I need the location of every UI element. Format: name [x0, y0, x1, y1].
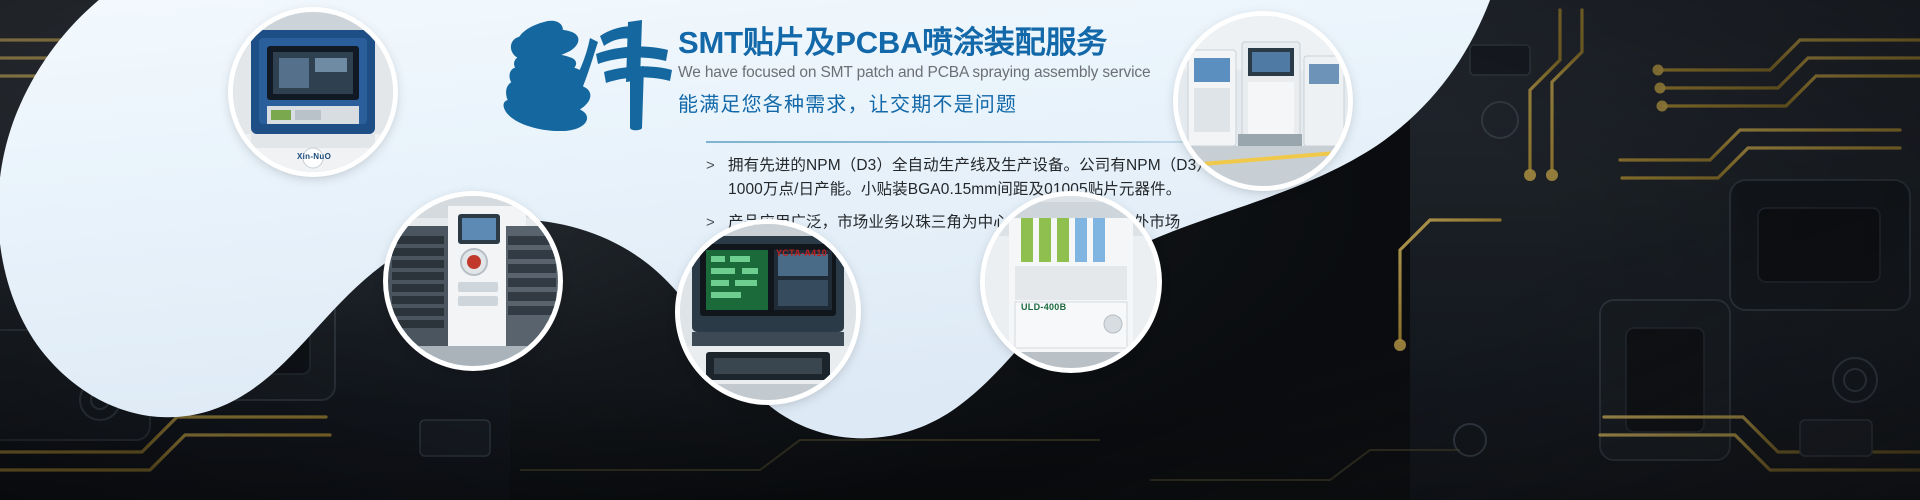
subtitle-english: We have focused on SMT patch and PCBA sp… [678, 64, 1190, 82]
subtitle-chinese: 能满足您各种需求，让交期不是问题 [678, 88, 1190, 117]
chevron-right-icon: > [706, 154, 728, 178]
photo-caption: ULD-400B [1021, 302, 1066, 312]
photo-production-line-room [1178, 16, 1348, 186]
brush-calligraphy-duonian [500, 16, 675, 131]
smt-service-banner: SMT贴片及PCBA喷涂装配服务 We have focused on SMT … [0, 0, 1920, 500]
photo-uld-loader-machine: ULD-400B [985, 196, 1157, 368]
headline-block: SMT贴片及PCBA喷涂装配服务 We have focused on SMT … [678, 26, 1190, 117]
banner-content: SMT贴片及PCBA喷涂装配服务 We have focused on SMT … [500, 14, 1190, 224]
photo-aoi-inspection-machine: YCTA-A410 [680, 224, 856, 400]
photo-caption: Xin-NuO [297, 152, 331, 161]
photo-smt-printer-machine: Xin-NuO [233, 12, 393, 172]
page-title: SMT贴片及PCBA喷涂装配服务 [678, 26, 1190, 61]
photo-smt-mounter-machine [388, 196, 558, 366]
photo-caption: YCTA-A410 [776, 248, 827, 258]
